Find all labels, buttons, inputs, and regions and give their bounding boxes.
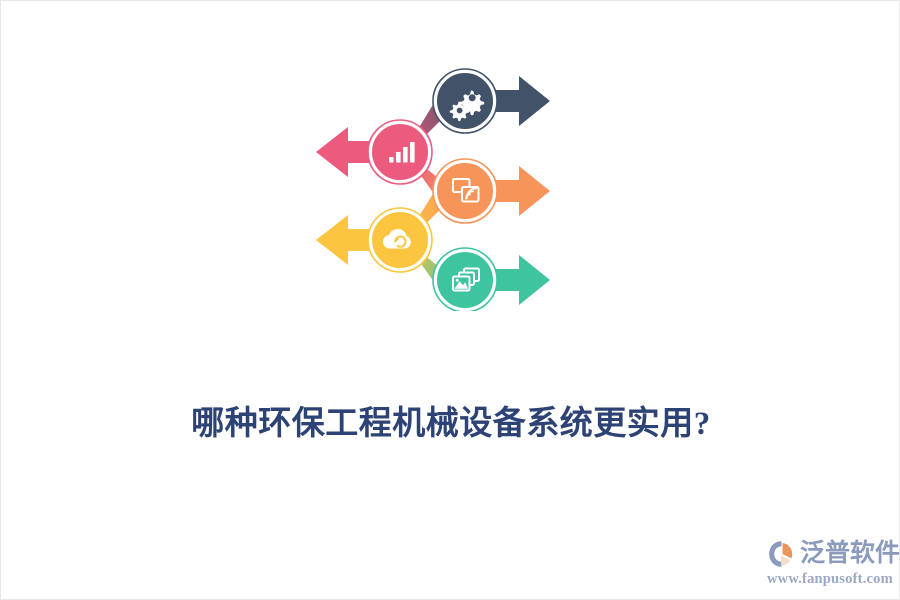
node-gears[interactable] [433,69,497,133]
page-canvas: 哪种环保工程机械设备系统更实用? 泛普软件 www.fanpusoft.com [0,0,900,600]
logo-url: www.fanpusoft.com [767,571,891,588]
node-cloud-sync[interactable] [368,208,432,272]
logo-brand-name: 泛普软件 [800,539,900,569]
fanpu-logo-mark-icon [767,539,797,569]
page-title: 哪种环保工程机械设备系统更实用? [1,401,900,447]
logo-row: 泛普软件 [767,538,891,570]
node-photo-gallery[interactable] [433,248,497,311]
brand-logo[interactable]: 泛普软件 www.fanpusoft.com [767,538,891,588]
arrow-process-diagram [301,59,561,311]
node-bar-chart[interactable] [368,120,432,184]
node-screen-cast[interactable] [433,159,497,223]
